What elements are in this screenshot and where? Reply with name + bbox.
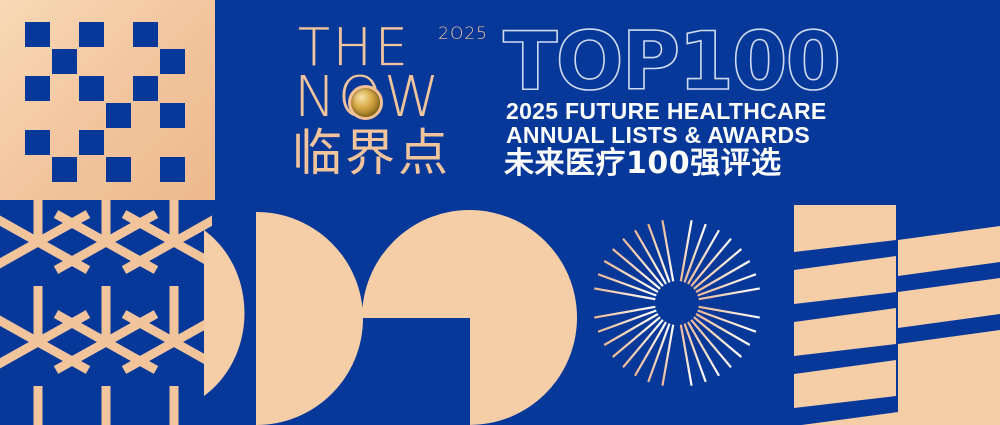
- checkerboard-cell: [160, 49, 185, 74]
- checkerboard-cell: [133, 76, 158, 101]
- sunburst-ray: [662, 220, 673, 281]
- checkerboard-cell: [25, 22, 50, 47]
- diagonal-stripes-pattern: [786, 200, 1000, 425]
- sunburst-ray: [594, 288, 655, 299]
- checkerboard-cell: [133, 22, 158, 47]
- checkerboard-cell: [160, 103, 185, 128]
- lens-shape: [182, 228, 260, 398]
- headline-english-line2: ANNUAL LISTS & AWARDS: [506, 123, 810, 148]
- sunburst-ray: [699, 307, 760, 318]
- logo-chinese-text: 临界点: [292, 128, 451, 178]
- sunburst-ray: [662, 325, 673, 386]
- cube-lattice-pattern: [0, 200, 212, 425]
- sunburst-ray: [594, 307, 655, 318]
- banner-root: THE 2O25 NOW 临界点 TOP100 2025 FUTURE HEAL…: [0, 0, 1000, 425]
- checkerboard-cell: [106, 157, 131, 182]
- headline-chinese: 未来医疗100强评选: [504, 148, 782, 180]
- logo-block: THE 2O25 NOW 临界点: [292, 18, 492, 188]
- headline-english-line1: 2025 FUTURE HEALTHCARE: [506, 99, 827, 124]
- sunburst-ray: [681, 325, 692, 386]
- top100-headline: TOP100: [503, 22, 839, 102]
- checkerboard-cell: [160, 157, 185, 182]
- logo-year-text: 2O25: [438, 26, 488, 43]
- gold-orb-icon: [348, 85, 383, 120]
- checkerboard-cell: [79, 130, 104, 155]
- half-circle-shape: [256, 212, 363, 425]
- sunburst-rays: [592, 218, 762, 388]
- sunburst-ray: [699, 288, 760, 299]
- checkerboard-cell: [106, 103, 131, 128]
- checkerboard-cell: [79, 22, 104, 47]
- checkerboard-cell: [52, 157, 77, 182]
- checkerboard-cell: [25, 76, 50, 101]
- sunburst-ray: [681, 220, 692, 281]
- checkerboard-pattern: [0, 0, 215, 200]
- checkerboard-cell: [79, 76, 104, 101]
- checkerboard-cell: [25, 130, 50, 155]
- circle-with-square-notch: [362, 210, 577, 425]
- checkerboard-cell: [52, 49, 77, 74]
